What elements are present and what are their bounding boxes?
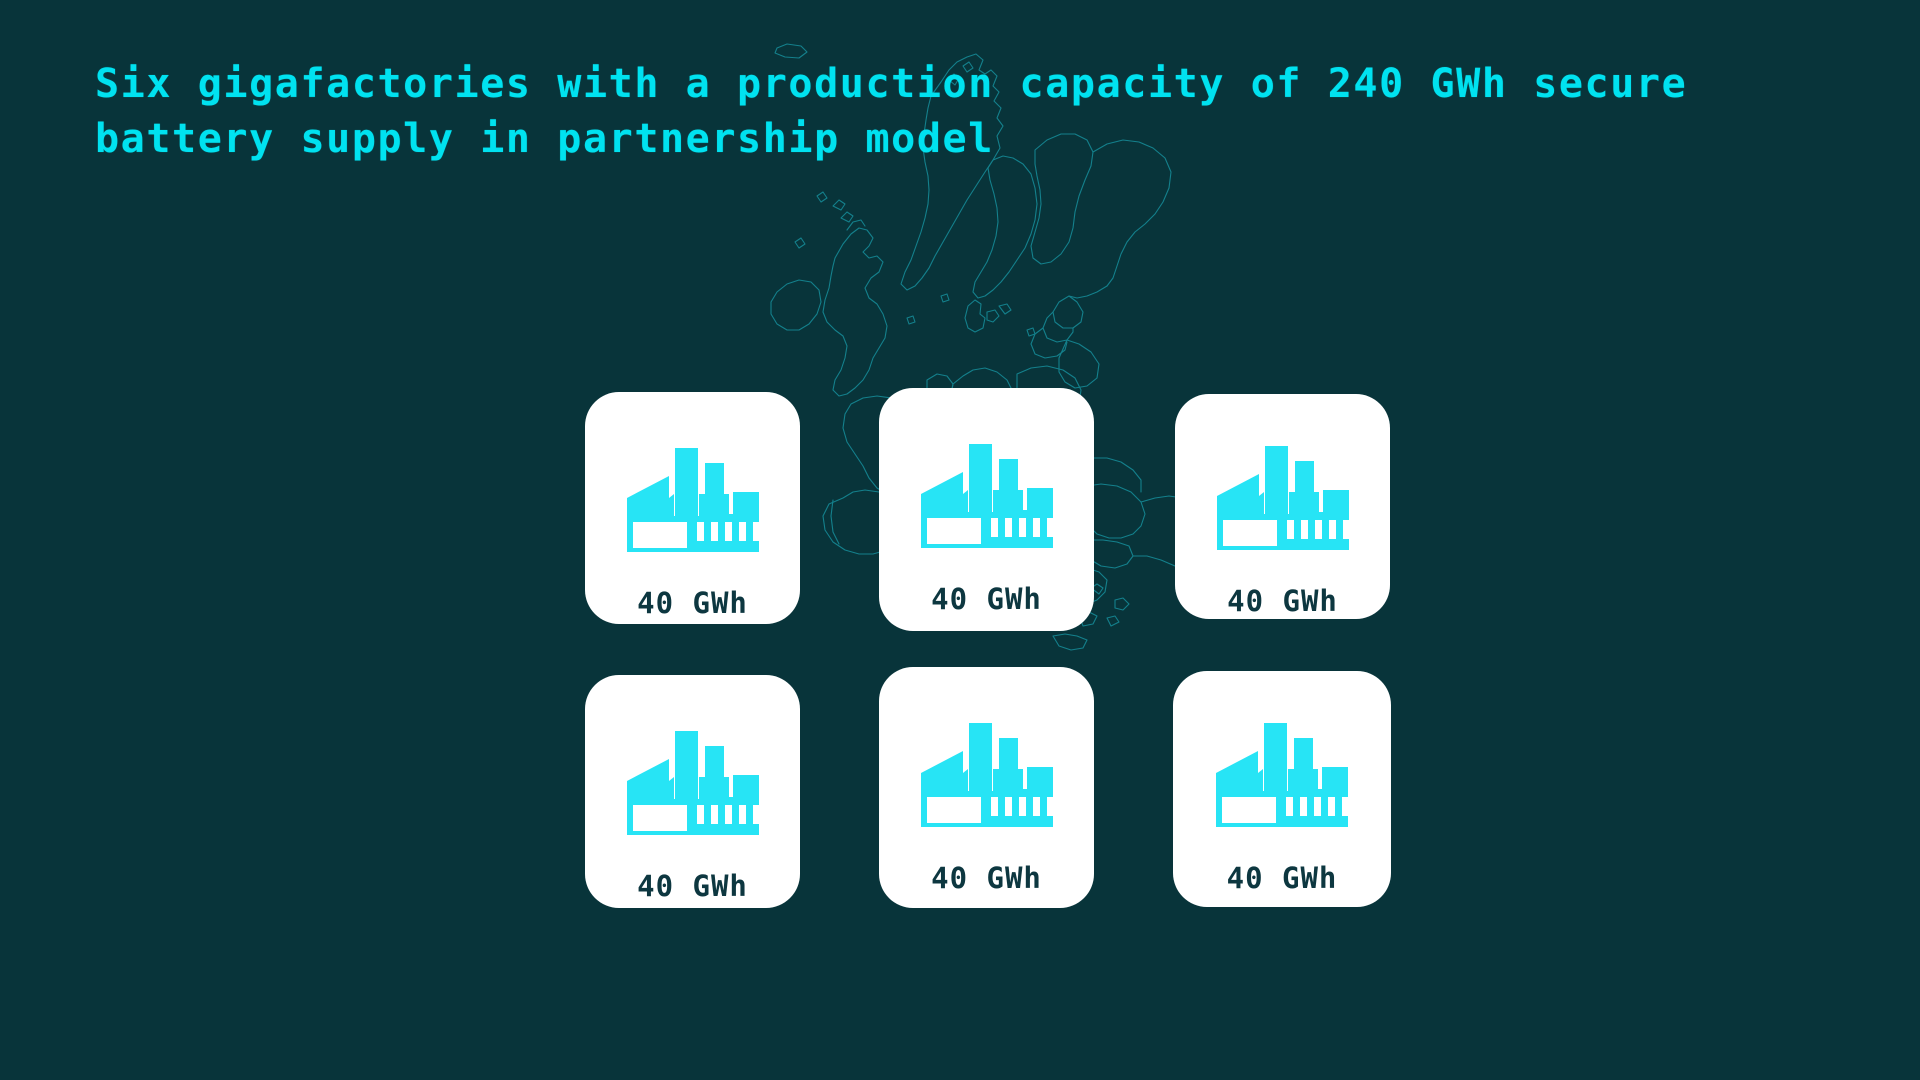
gigafactory-card[interactable]: 40 GWh (585, 392, 800, 624)
capacity-label: 40 GWh (931, 861, 1042, 895)
gigafactory-card[interactable]: 40 GWh (585, 675, 800, 908)
capacity-label: 40 GWh (931, 582, 1042, 616)
factory-icon (619, 709, 767, 843)
factory-icon (1208, 701, 1356, 835)
factory-icon (913, 701, 1061, 835)
factory-icon (1209, 424, 1357, 558)
capacity-label: 40 GWh (1227, 584, 1338, 618)
capacity-label: 40 GWh (637, 586, 748, 620)
gigafactory-card[interactable]: 40 GWh (1173, 671, 1391, 907)
gigafactory-card[interactable]: 40 GWh (1175, 394, 1390, 619)
gigafactory-card[interactable]: 40 GWh (879, 667, 1094, 908)
page-title: Six gigafactories with a production capa… (95, 57, 1885, 167)
factory-icon (619, 426, 767, 560)
capacity-label: 40 GWh (637, 869, 748, 903)
factory-icon (913, 422, 1061, 556)
gigafactory-card-grid: 40 GWh 40 GWh (585, 392, 1413, 908)
gigafactory-card[interactable]: 40 GWh (879, 388, 1094, 631)
slide-canvas: Six gigafactories with a production capa… (0, 0, 1920, 1080)
capacity-label: 40 GWh (1227, 861, 1338, 895)
